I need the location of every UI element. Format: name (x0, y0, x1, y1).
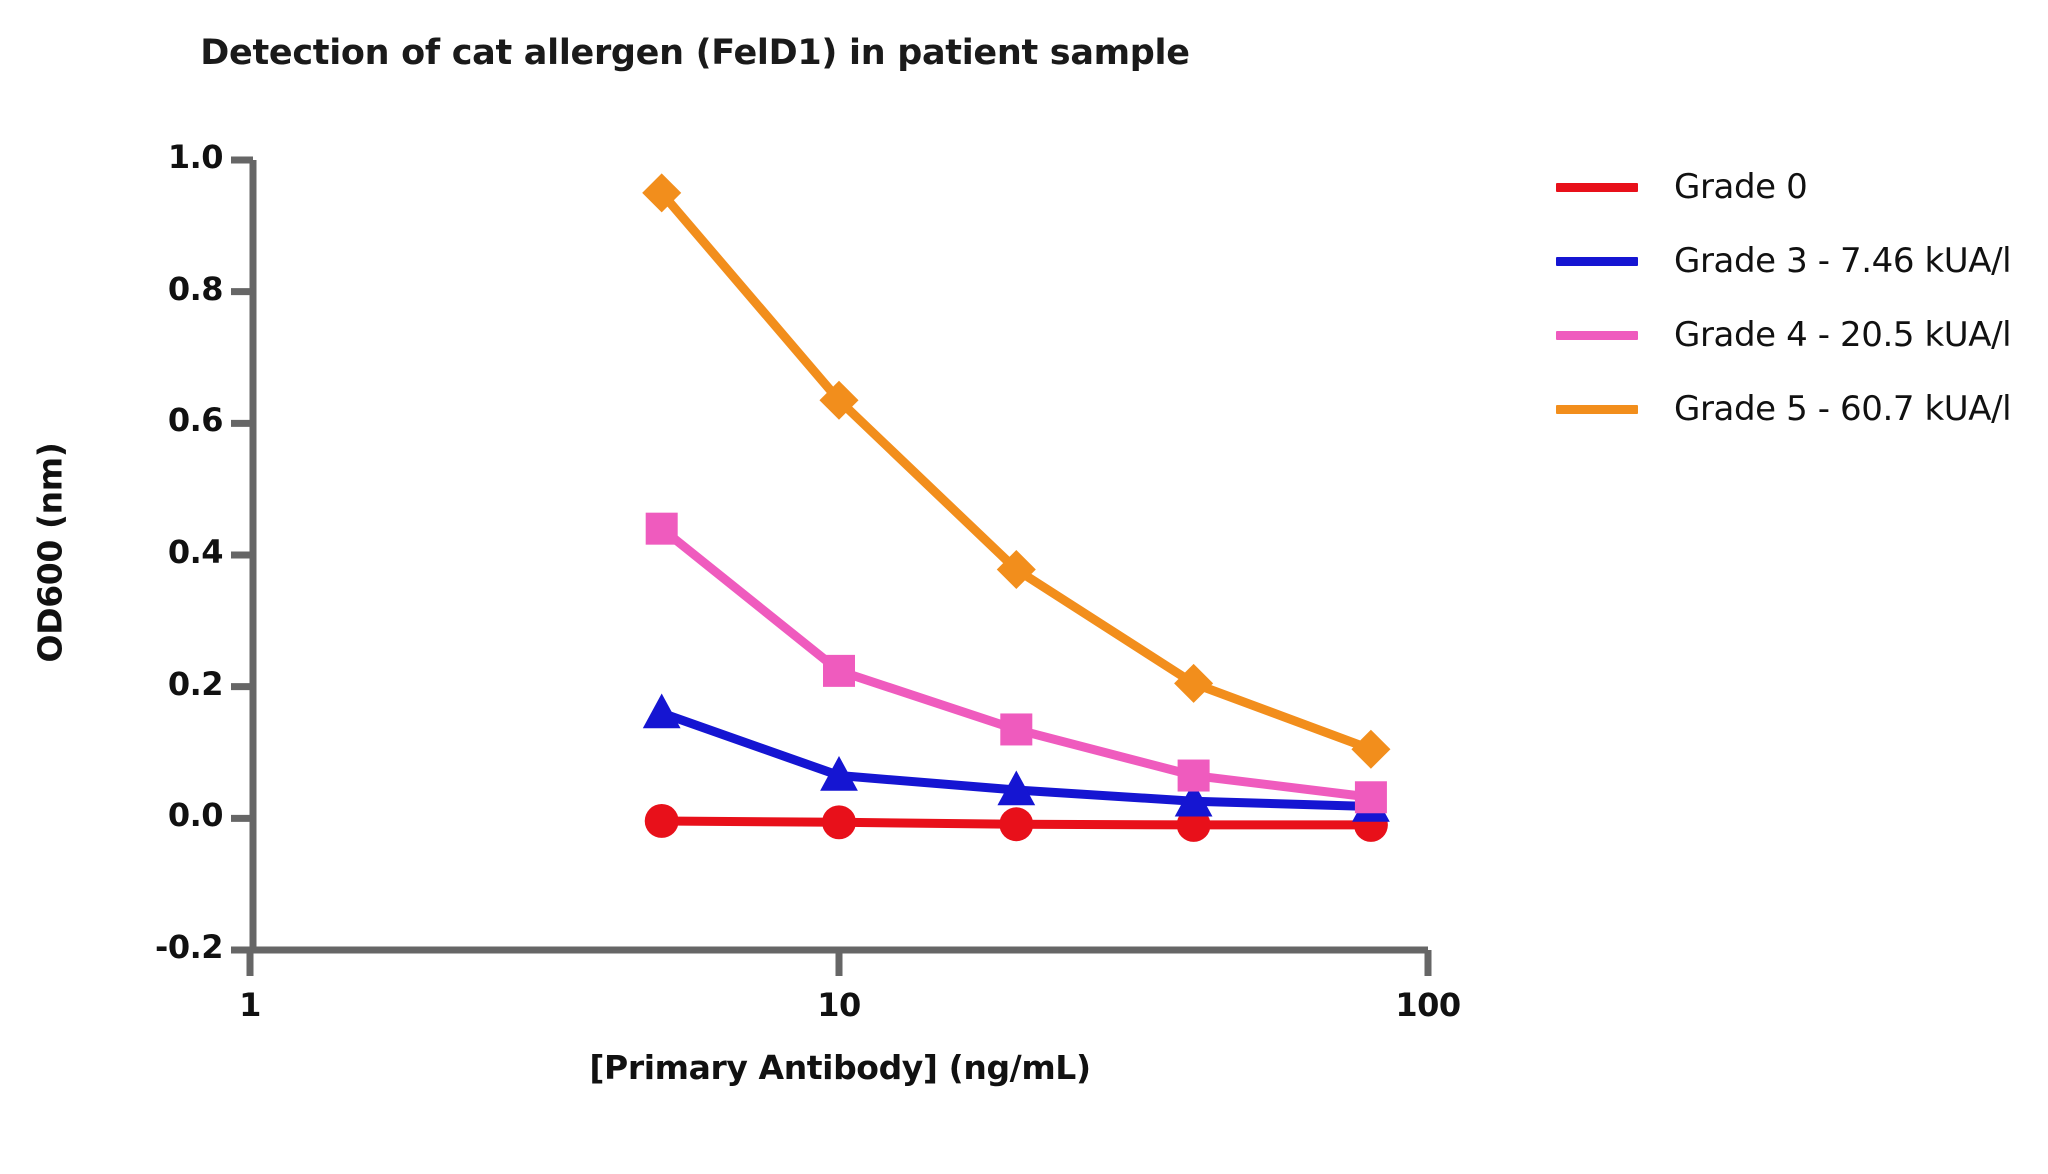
legend-swatch-icon (1556, 331, 1638, 340)
data-point-square (1000, 713, 1032, 745)
data-point-circle (645, 804, 679, 838)
data-point-circle (822, 805, 856, 839)
data-point-square (1355, 781, 1387, 813)
series-group (642, 173, 1390, 841)
data-point-circle (999, 807, 1033, 841)
legend-item[interactable]: Grade 0 (1556, 150, 2011, 224)
data-point-square (646, 513, 678, 545)
legend-item[interactable]: Grade 5 - 60.7 kUA/l (1556, 372, 2011, 446)
legend-label: Grade 5 - 60.7 kUA/l (1674, 389, 2011, 429)
y-tick-label: 1.0 (103, 138, 223, 176)
data-point-diamond (1351, 730, 1390, 769)
legend-item[interactable]: Grade 3 - 7.46 kUA/l (1556, 224, 2011, 298)
data-point-square (1178, 760, 1210, 792)
x-axis-label: [Primary Antibody] (ng/mL) (340, 1048, 1340, 1087)
x-tick-label: 1 (190, 986, 310, 1024)
y-tick-label: -0.2 (103, 928, 223, 966)
y-tick-label: 0.6 (103, 401, 223, 439)
chart-canvas: Detection of cat allergen (FelD1) in pat… (0, 0, 2048, 1174)
legend-label: Grade 0 (1674, 167, 1807, 207)
y-tick-label: 0.2 (103, 665, 223, 703)
y-tick-label: 0.8 (103, 270, 223, 308)
axes-group (231, 160, 1428, 976)
series-grade-0 (645, 804, 1388, 842)
legend-label: Grade 4 - 20.5 kUA/l (1674, 315, 2011, 355)
series-line (662, 193, 1371, 749)
legend-label: Grade 3 - 7.46 kUA/l (1674, 241, 2011, 281)
series-grade-5-60-7-kua-l (642, 173, 1390, 768)
legend-item[interactable]: Grade 4 - 20.5 kUA/l (1556, 298, 2011, 372)
y-tick-label: 0.4 (103, 533, 223, 571)
legend-swatch-icon (1556, 183, 1638, 192)
legend-swatch-icon (1556, 257, 1638, 266)
y-axis-label: OD600 (nm) (31, 403, 70, 703)
y-tick-label: 0.0 (103, 796, 223, 834)
x-tick-label: 100 (1368, 986, 1488, 1024)
legend-swatch-icon (1556, 405, 1638, 414)
data-point-square (823, 655, 855, 687)
x-tick-label: 10 (779, 986, 899, 1024)
chart-legend: Grade 0Grade 3 - 7.46 kUA/lGrade 4 - 20.… (1556, 150, 2011, 446)
data-point-triangle (643, 693, 681, 728)
